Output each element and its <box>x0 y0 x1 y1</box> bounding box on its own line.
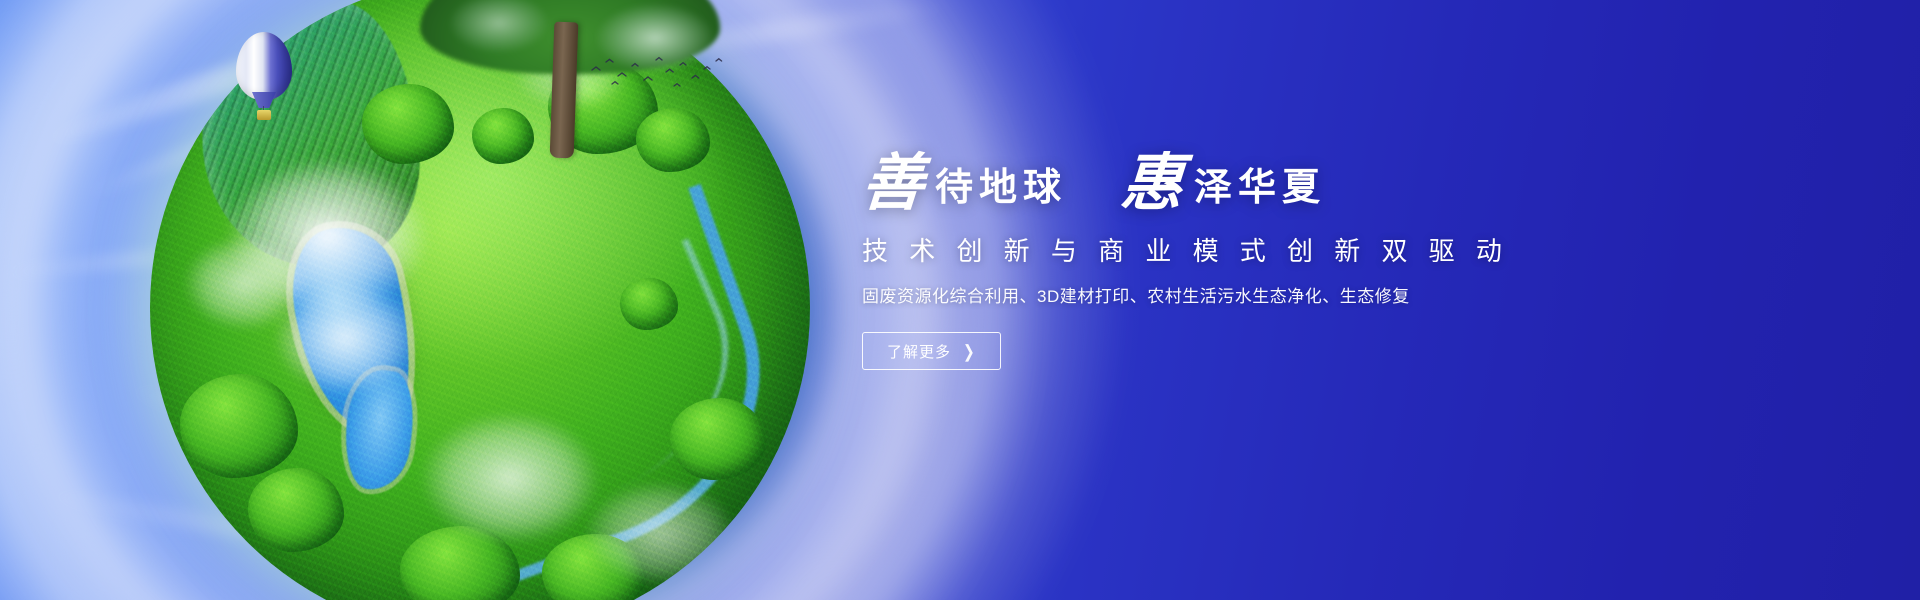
page-description: 固废资源化综合利用、3D建材打印、农村生活污水生态净化、生态修复 <box>862 286 1562 308</box>
lake-icon <box>279 217 428 445</box>
river-icon <box>406 184 806 583</box>
surface-cloud-icon <box>220 153 435 318</box>
tree-cluster-icon <box>472 108 534 164</box>
balloon-skirt <box>252 92 276 108</box>
hero-banner: 善 待地球 惠 泽华夏 技 术 创 新 与 商 业 模 式 创 新 双 驱 动 … <box>0 0 1920 600</box>
chevron-right-icon: ❯ <box>963 342 976 360</box>
surface-cloud-icon <box>415 408 605 548</box>
headline-rest-2: 泽华夏 <box>1194 165 1326 214</box>
balloon-envelope <box>236 32 292 100</box>
surface-cloud-icon <box>270 278 420 398</box>
tree-cluster-icon <box>362 84 454 164</box>
mountain-ridge-icon <box>185 0 434 282</box>
tree-cluster-icon <box>620 278 678 330</box>
tree-cluster-icon <box>400 526 520 600</box>
river-icon <box>472 238 770 517</box>
tree-cluster-icon <box>248 468 344 552</box>
bird-flock-icon <box>588 52 728 92</box>
lake-icon <box>339 366 419 493</box>
page-subtitle: 技 术 创 新 与 商 业 模 式 创 新 双 驱 动 <box>862 236 1562 266</box>
tree-cluster-icon <box>542 534 646 600</box>
hero-text-block: 善 待地球 惠 泽华夏 技 术 创 新 与 商 业 模 式 创 新 双 驱 动 … <box>862 132 1562 370</box>
surface-cloud-icon <box>180 233 310 333</box>
hot-air-balloon-icon <box>236 32 292 124</box>
page-title: 善 待地球 惠 泽华夏 <box>862 132 1562 214</box>
learn-more-button[interactable]: 了解更多 ❯ <box>862 332 1001 370</box>
learn-more-label: 了解更多 <box>887 341 951 362</box>
balloon-basket <box>257 110 271 120</box>
tree-cluster-icon <box>180 374 298 478</box>
headline-accent-1: 善 <box>860 152 927 214</box>
headline-accent-2: 惠 <box>1119 152 1186 214</box>
tree-cluster-icon <box>670 398 766 480</box>
surface-cloud-icon <box>580 478 740 588</box>
headline-rest-1: 待地球 <box>935 165 1067 214</box>
tree-cluster-icon <box>636 108 710 172</box>
